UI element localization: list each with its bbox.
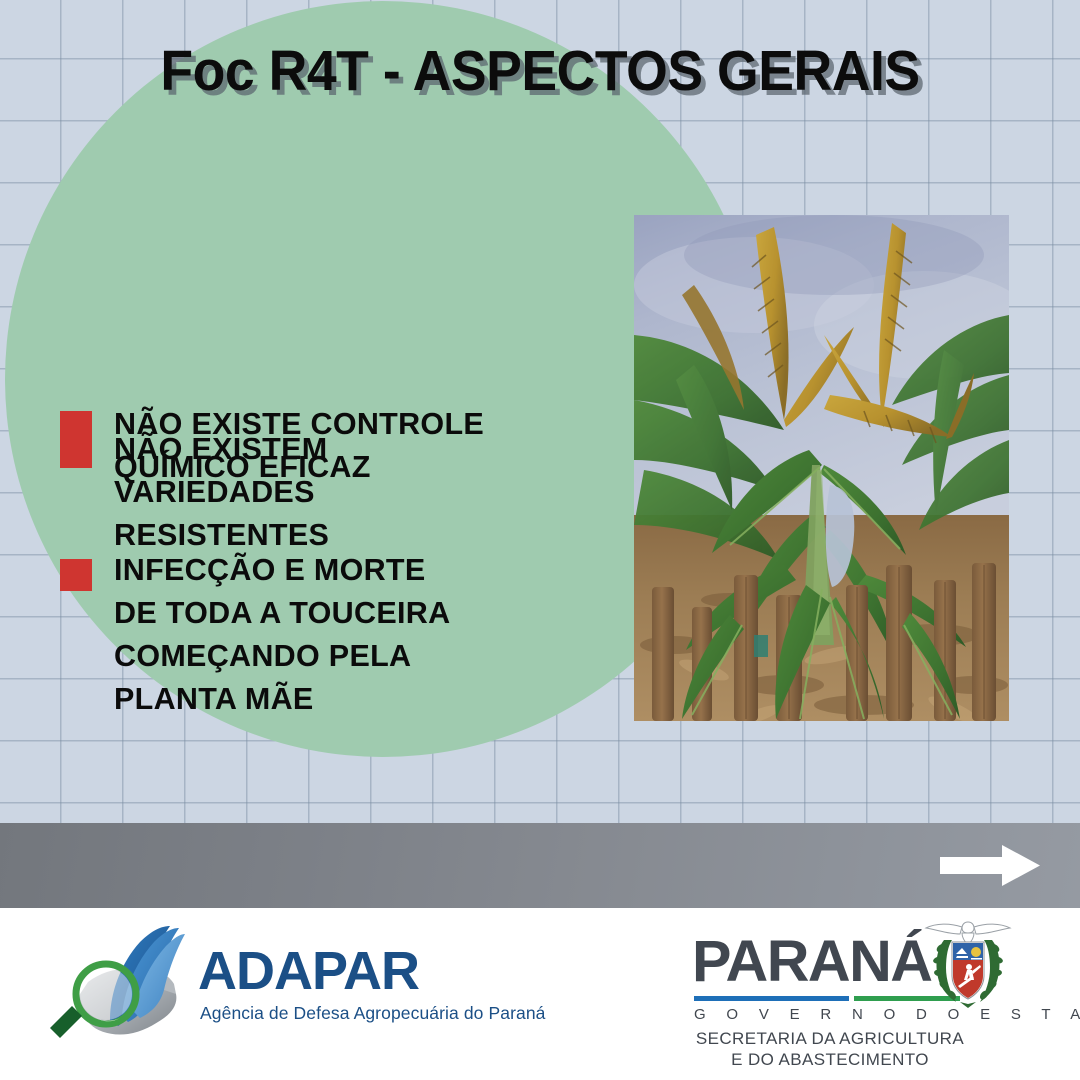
parana-blue-bar <box>694 996 849 1001</box>
adapar-subtitle: Agência de Defesa Agropecuária do Paraná <box>200 1003 546 1024</box>
adapar-wordmark: ADAPAR <box>198 942 419 1000</box>
bullet-square-icon <box>60 411 92 443</box>
bullet-item-infection-and-death: INFECÇÃO E MORTE DE TODA A TOUCEIRA COME… <box>60 549 620 721</box>
bullet-square-icon <box>60 559 92 591</box>
parana-government-logo: PARANÁ G O V E R N O D O E S T A D O SEC… <box>660 918 1040 1068</box>
page-title: Foc R4T - ASPECTOS GERAIS <box>32 38 1047 104</box>
footer: ADAPAR Agência de Defesa Agropecuária do… <box>0 908 1080 1080</box>
arrow-right-icon[interactable] <box>940 843 1040 888</box>
bullet-text: INFECÇÃO E MORTE DE TODA A TOUCEIRA COME… <box>114 549 620 721</box>
parana-wordmark: PARANÁ <box>692 932 932 992</box>
bullet-text: NÃO EXISTE CONTROLE QUÍMICO EFICAZ <box>114 403 620 489</box>
slide-canvas: Foc R4T - ASPECTOS GERAIS NÃO EXISTEM VA… <box>0 0 1080 1080</box>
photo-illustration <box>634 215 1009 721</box>
adapar-logo: ADAPAR Agência de Defesa Agropecuária do… <box>48 918 518 1058</box>
bullet-item-no-chemical-control: NÃO EXISTE CONTROLE QUÍMICO EFICAZ <box>60 403 620 489</box>
parana-coat-of-arms-icon <box>922 918 1014 1010</box>
bullet-list: NÃO EXISTEM VARIEDADES RESISTENTES NÃO E… <box>60 214 620 721</box>
parana-rule-bars <box>694 996 960 1001</box>
magnifier-over-parana-map-icon <box>48 924 186 1048</box>
parana-government-label: G O V E R N O D O E S T A D O <box>694 1006 1080 1023</box>
navigation-bar <box>0 823 1080 908</box>
banana-plantation-photo <box>634 215 1009 721</box>
parana-secretariat-label: SECRETARIA DA AGRICULTURA E DO ABASTECIM… <box>680 1028 980 1070</box>
